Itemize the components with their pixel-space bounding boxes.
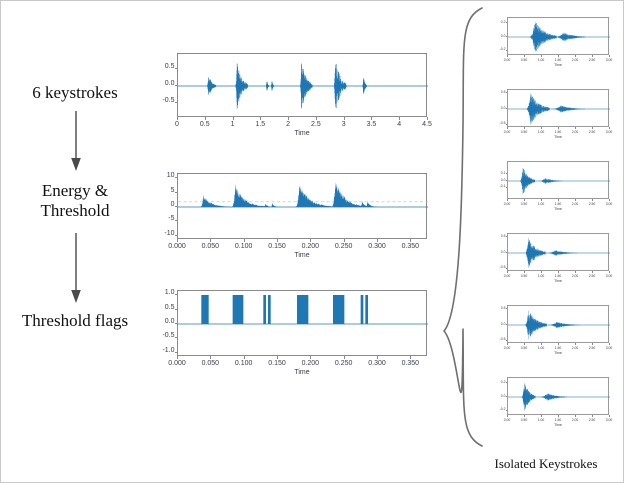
x-tick-mark <box>507 127 508 129</box>
plot-isolated-keystroke-3: 0.10.0-0.10.000.501.001.502.002.503.00Ti… <box>489 157 617 217</box>
x-tick-mark <box>609 55 610 57</box>
x-tick-mark <box>524 415 525 417</box>
x-tick-mark <box>277 356 278 359</box>
x-tick-mark <box>377 356 378 359</box>
y-tick-label: 0.5 <box>155 63 175 70</box>
x-tick-mark <box>575 415 576 417</box>
y-tick-mark <box>175 102 178 103</box>
x-tick-mark <box>277 239 278 242</box>
y-tick-label: -0.5 <box>155 332 175 339</box>
y-tick-mark <box>175 294 178 295</box>
arrow-keystrokes-to-energy <box>69 111 83 173</box>
y-tick-mark <box>175 235 178 236</box>
x-tick-mark <box>609 343 610 345</box>
x-tick-mark <box>410 356 411 359</box>
y-tick-label: 0.0 <box>155 318 175 325</box>
x-tick-label: 0.5 <box>193 121 217 128</box>
x-tick-mark <box>507 415 508 417</box>
x-tick-mark <box>427 117 428 120</box>
x-tick-label: 2.00 <box>568 58 582 62</box>
axes-frame <box>177 173 427 239</box>
plot-isolated-keystroke-1: 0.20.0-0.20.000.501.001.502.002.503.00Ti… <box>489 13 617 73</box>
x-tick-label: 1.00 <box>534 130 548 134</box>
x-tick-mark <box>244 356 245 359</box>
x-axis-label: Time <box>177 369 427 376</box>
x-tick-label: 0.200 <box>298 243 322 250</box>
x-tick-mark <box>524 271 525 273</box>
axes-frame <box>507 17 609 55</box>
axes-frame <box>507 233 609 271</box>
y-tick-label: 0.5 <box>493 234 506 238</box>
y-tick-label: 0.0 <box>493 178 506 182</box>
x-tick-label: 1 <box>221 121 245 128</box>
x-tick-label: 0.350 <box>398 360 422 367</box>
raw-waveform-canvas <box>178 54 428 118</box>
y-tick-mark <box>175 352 178 353</box>
x-axis-label: Time <box>177 130 427 137</box>
y-tick-label: 0.0 <box>493 34 506 38</box>
y-tick-label: -1.0 <box>155 347 175 354</box>
axes-frame <box>507 377 609 415</box>
plot-isolated-keystroke-2: 0.50.0-0.50.000.501.001.502.002.503.00Ti… <box>489 85 617 145</box>
y-tick-mark <box>506 92 508 93</box>
x-tick-label: 2.50 <box>585 346 599 350</box>
x-tick-label: 1.50 <box>551 58 565 62</box>
x-tick-label: 2.5 <box>304 121 328 128</box>
x-tick-label: 0.00 <box>500 418 514 422</box>
x-tick-mark <box>558 127 559 129</box>
x-tick-label: 1.00 <box>534 418 548 422</box>
arrow-energy-to-flags <box>69 233 83 305</box>
x-tick-label: 0.00 <box>500 274 514 278</box>
x-tick-mark <box>410 239 411 242</box>
x-tick-mark <box>377 239 378 242</box>
x-axis-label: Time <box>177 252 427 259</box>
x-tick-label: 3.00 <box>602 202 616 206</box>
x-tick-label: 2 <box>276 121 300 128</box>
x-tick-label: 0.050 <box>198 243 222 250</box>
x-tick-mark <box>177 356 178 359</box>
x-tick-mark <box>507 55 508 57</box>
x-tick-label: 0.50 <box>517 130 531 134</box>
x-tick-mark <box>541 199 542 201</box>
x-tick-mark <box>609 127 610 129</box>
x-tick-label: 0.50 <box>517 274 531 278</box>
y-tick-label: 0.0 <box>155 80 175 87</box>
x-tick-label: 0.100 <box>232 360 256 367</box>
y-tick-label: 10 <box>155 172 175 179</box>
x-tick-mark <box>310 239 311 242</box>
x-tick-label: 2.00 <box>568 202 582 206</box>
x-tick-mark <box>210 239 211 242</box>
x-tick-mark <box>575 55 576 57</box>
pipeline-figure: 6 keystrokes Energy & Threshold Threshol… <box>0 0 624 483</box>
x-tick-label: 3 <box>332 121 356 128</box>
y-tick-mark <box>175 337 178 338</box>
x-tick-label: 0.50 <box>517 58 531 62</box>
x-tick-mark <box>541 127 542 129</box>
x-tick-mark <box>210 356 211 359</box>
y-tick-label: 0.5 <box>493 90 506 94</box>
isolated-keystroke-5-canvas <box>508 306 610 344</box>
x-tick-label: 0.000 <box>165 243 189 250</box>
y-tick-mark <box>506 308 508 309</box>
y-tick-label: -0.1 <box>493 184 506 188</box>
y-tick-mark <box>506 124 508 125</box>
x-tick-label: 1.00 <box>534 202 548 206</box>
x-tick-label: 0.00 <box>500 202 514 206</box>
y-tick-label: 5 <box>155 187 175 194</box>
x-tick-mark <box>205 117 206 120</box>
x-tick-mark <box>524 343 525 345</box>
x-tick-label: 1.00 <box>534 346 548 350</box>
x-tick-mark <box>592 55 593 57</box>
x-tick-mark <box>524 127 525 129</box>
x-tick-label: 1.50 <box>551 274 565 278</box>
x-tick-label: 1.50 <box>551 418 565 422</box>
x-tick-mark <box>575 127 576 129</box>
x-tick-label: 0.000 <box>165 360 189 367</box>
axes-frame <box>507 161 609 199</box>
x-tick-mark <box>558 199 559 201</box>
x-axis-label: Time <box>507 135 609 139</box>
x-axis-label: Time <box>507 279 609 283</box>
y-tick-label: 0.1 <box>493 171 506 175</box>
y-tick-label: -0.2 <box>493 407 506 411</box>
x-tick-label: 0.300 <box>365 360 389 367</box>
y-tick-mark <box>175 85 178 86</box>
x-tick-label: 2.00 <box>568 418 582 422</box>
y-tick-mark <box>506 173 508 174</box>
x-tick-label: 3.00 <box>602 346 616 350</box>
y-tick-mark <box>506 396 508 397</box>
x-tick-mark <box>371 117 372 120</box>
x-tick-mark <box>288 117 289 120</box>
y-tick-label: 0.2 <box>493 380 506 384</box>
x-tick-mark <box>592 343 593 345</box>
y-tick-mark <box>175 206 178 207</box>
y-tick-mark <box>506 22 508 23</box>
y-tick-label: -0.5 <box>493 121 506 125</box>
y-tick-mark <box>175 177 178 178</box>
x-tick-label: 0.100 <box>232 243 256 250</box>
y-tick-label: 0.0 <box>493 322 506 326</box>
y-tick-mark <box>175 220 178 221</box>
plot-isolated-keystroke-4: 0.50.0-0.50.000.501.001.502.002.503.00Ti… <box>489 229 617 289</box>
x-tick-mark <box>592 271 593 273</box>
x-tick-label: 0.150 <box>265 360 289 367</box>
isolated-keystroke-6-canvas <box>508 378 610 416</box>
x-tick-label: 0.300 <box>365 243 389 250</box>
y-tick-label: 0.2 <box>493 20 506 24</box>
y-tick-mark <box>175 309 178 310</box>
x-tick-mark <box>524 199 525 201</box>
y-tick-mark <box>175 192 178 193</box>
y-tick-mark <box>506 50 508 51</box>
y-tick-label: 0.0 <box>493 394 506 398</box>
isolated-keystroke-4-canvas <box>508 234 610 272</box>
x-tick-mark <box>541 415 542 417</box>
x-tick-mark <box>507 199 508 201</box>
x-tick-mark <box>592 127 593 129</box>
y-tick-label: -5 <box>155 215 175 222</box>
label-energy-threshold: Energy & Threshold <box>5 181 145 220</box>
x-axis-label: Time <box>507 63 609 67</box>
x-tick-mark <box>399 117 400 120</box>
x-tick-label: 2.00 <box>568 346 582 350</box>
x-tick-label: 2.50 <box>585 274 599 278</box>
x-tick-label: 0.50 <box>517 418 531 422</box>
x-tick-mark <box>177 117 178 120</box>
x-tick-label: 1.50 <box>551 130 565 134</box>
x-tick-label: 1.50 <box>551 202 565 206</box>
x-tick-mark <box>575 199 576 201</box>
energy-threshold-canvas <box>178 174 428 240</box>
x-tick-label: 2.50 <box>585 202 599 206</box>
plot-isolated-keystroke-5: 0.50.0-0.50.000.501.001.502.002.503.00Ti… <box>489 301 617 361</box>
x-tick-label: 2.00 <box>568 274 582 278</box>
y-tick-mark <box>506 252 508 253</box>
y-tick-mark <box>506 236 508 237</box>
x-tick-label: 3.5 <box>359 121 383 128</box>
x-tick-mark <box>609 199 610 201</box>
x-tick-mark <box>558 343 559 345</box>
x-tick-mark <box>233 117 234 120</box>
x-tick-mark <box>310 356 311 359</box>
x-tick-label: 1.00 <box>534 58 548 62</box>
isolated-keystroke-2-canvas <box>508 90 610 128</box>
y-tick-label: 0.0 <box>493 106 506 110</box>
grouping-brace <box>438 5 486 449</box>
y-tick-mark <box>506 340 508 341</box>
y-tick-mark <box>506 324 508 325</box>
x-tick-mark <box>344 356 345 359</box>
y-tick-label: 0.5 <box>155 304 175 311</box>
x-tick-mark <box>260 117 261 120</box>
x-tick-label: 4.5 <box>415 121 439 128</box>
y-tick-mark <box>506 382 508 383</box>
label-threshold-flags: Threshold flags <box>1 311 149 331</box>
y-tick-mark <box>506 108 508 109</box>
plot-energy-threshold: 1050-5-100.0000.0500.1000.1500.2000.2500… <box>151 165 441 271</box>
y-tick-label: 1.0 <box>155 289 175 296</box>
x-tick-label: 0.250 <box>332 243 356 250</box>
x-tick-mark <box>177 239 178 242</box>
y-tick-label: 0.0 <box>493 250 506 254</box>
axes-frame <box>177 290 427 356</box>
y-tick-label: -0.5 <box>493 265 506 269</box>
x-axis-label: Time <box>507 207 609 211</box>
x-axis-label: Time <box>507 351 609 355</box>
x-tick-label: 3.00 <box>602 274 616 278</box>
y-tick-label: -0.5 <box>493 337 506 341</box>
x-tick-mark <box>316 117 317 120</box>
axes-frame <box>177 53 427 117</box>
y-tick-mark <box>175 68 178 69</box>
x-tick-label: 0.350 <box>398 243 422 250</box>
x-tick-label: 0.50 <box>517 346 531 350</box>
x-tick-label: 1.5 <box>248 121 272 128</box>
x-tick-label: 0.050 <box>198 360 222 367</box>
y-tick-mark <box>175 323 178 324</box>
x-tick-label: 0.00 <box>500 130 514 134</box>
x-tick-mark <box>592 199 593 201</box>
x-tick-mark <box>558 55 559 57</box>
x-axis-label: Time <box>507 423 609 427</box>
axes-frame <box>507 89 609 127</box>
x-tick-label: 0.200 <box>298 360 322 367</box>
y-tick-mark <box>506 36 508 37</box>
y-tick-label: -10 <box>155 230 175 237</box>
x-tick-mark <box>344 117 345 120</box>
label-6-keystrokes: 6 keystrokes <box>5 83 145 103</box>
x-tick-label: 0.150 <box>265 243 289 250</box>
y-tick-mark <box>506 180 508 181</box>
caption-isolated-keystrokes: Isolated Keystrokes <box>471 456 621 472</box>
x-tick-label: 3.00 <box>602 58 616 62</box>
x-tick-mark <box>541 343 542 345</box>
x-tick-mark <box>541 55 542 57</box>
plot-isolated-keystroke-6: 0.20.0-0.20.000.501.001.502.002.503.00Ti… <box>489 373 617 433</box>
y-tick-mark <box>506 187 508 188</box>
x-tick-label: 3.00 <box>602 130 616 134</box>
x-tick-label: 1.50 <box>551 346 565 350</box>
x-tick-label: 2.50 <box>585 418 599 422</box>
x-tick-label: 0.00 <box>500 346 514 350</box>
x-tick-label: 2.00 <box>568 130 582 134</box>
x-tick-mark <box>507 343 508 345</box>
x-tick-mark <box>244 239 245 242</box>
x-tick-mark <box>344 239 345 242</box>
x-tick-label: 3.00 <box>602 418 616 422</box>
isolated-keystroke-3-canvas <box>508 162 610 200</box>
x-tick-mark <box>541 271 542 273</box>
x-tick-label: 0.50 <box>517 202 531 206</box>
x-tick-mark <box>575 343 576 345</box>
x-tick-label: 2.50 <box>585 58 599 62</box>
x-tick-mark <box>575 271 576 273</box>
y-tick-label: -0.5 <box>155 97 175 104</box>
x-tick-label: 1.00 <box>534 274 548 278</box>
x-tick-mark <box>592 415 593 417</box>
y-tick-mark <box>506 410 508 411</box>
y-tick-mark <box>506 268 508 269</box>
x-tick-label: 4 <box>387 121 411 128</box>
x-tick-mark <box>609 415 610 417</box>
x-tick-mark <box>609 271 610 273</box>
x-tick-mark <box>524 55 525 57</box>
x-tick-label: 2.50 <box>585 130 599 134</box>
plot-threshold-flags: 1.00.50.0-0.5-1.00.0000.0500.1000.1500.2… <box>151 282 441 388</box>
plot-raw-waveform: 0.50.0-0.500.511.522.533.544.5Time <box>151 45 441 145</box>
x-tick-mark <box>558 271 559 273</box>
threshold-flags-canvas <box>178 291 428 357</box>
axes-frame <box>507 305 609 343</box>
x-tick-label: 0 <box>165 121 189 128</box>
isolated-keystroke-1-canvas <box>508 18 610 56</box>
x-tick-label: 0.250 <box>332 360 356 367</box>
x-tick-mark <box>507 271 508 273</box>
x-tick-mark <box>558 415 559 417</box>
y-tick-label: -0.2 <box>493 47 506 51</box>
y-tick-label: 0.5 <box>493 306 506 310</box>
x-tick-label: 0.00 <box>500 58 514 62</box>
y-tick-label: 0 <box>155 201 175 208</box>
